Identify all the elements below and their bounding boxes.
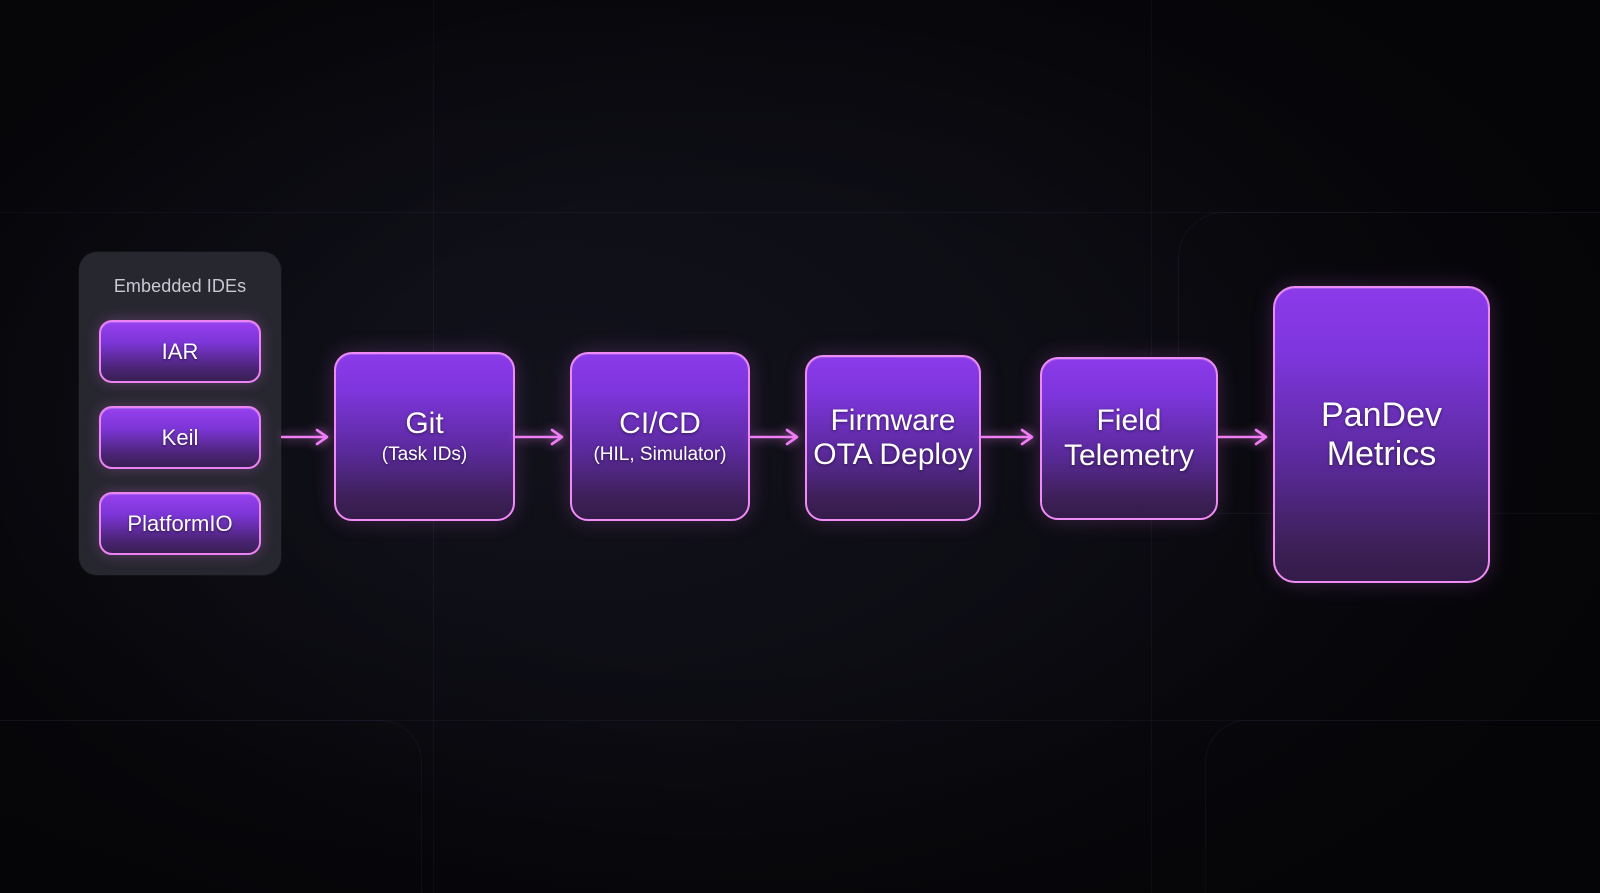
arrow-embedded-ides-to-git: [281, 425, 337, 449]
node-git[interactable]: Git (Task IDs): [334, 352, 515, 521]
node-field-telemetry[interactable]: Field Telemetry: [1040, 357, 1218, 520]
arrow-cicd-to-firmware: [750, 425, 807, 449]
chip-iar[interactable]: IAR: [99, 320, 261, 383]
node-firmware-ota-deploy[interactable]: Firmware OTA Deploy: [805, 355, 981, 521]
chip-keil[interactable]: Keil: [99, 406, 261, 469]
chip-iar-label: IAR: [162, 339, 199, 365]
arrow-telemetry-to-pandev: [1218, 425, 1276, 449]
group-embedded-ides-chip-list: IAR Keil PlatformIO: [99, 320, 261, 555]
node-field-telemetry-title: Field Telemetry: [1064, 404, 1194, 472]
chip-platformio[interactable]: PlatformIO: [99, 492, 261, 555]
flow-diagram: Embedded IDEs IAR Keil PlatformIO Git (T…: [0, 0, 1600, 893]
node-cicd[interactable]: CI/CD (HIL, Simulator): [570, 352, 750, 521]
group-embedded-ides-label: Embedded IDEs: [79, 276, 281, 297]
arrow-firmware-to-telemetry: [981, 425, 1042, 449]
diagram-canvas: Embedded IDEs IAR Keil PlatformIO Git (T…: [0, 0, 1600, 893]
node-firmware-ota-deploy-title: Firmware OTA Deploy: [813, 404, 973, 472]
node-git-title: Git: [405, 407, 443, 441]
node-cicd-title: CI/CD: [619, 407, 701, 441]
node-pandev-metrics-title: PanDev Metrics: [1321, 396, 1442, 474]
chip-platformio-label: PlatformIO: [127, 511, 232, 537]
arrow-git-to-cicd: [515, 425, 572, 449]
node-git-subtitle: (Task IDs): [382, 444, 468, 467]
node-cicd-subtitle: (HIL, Simulator): [593, 444, 726, 467]
chip-keil-label: Keil: [162, 425, 199, 451]
group-embedded-ides[interactable]: Embedded IDEs IAR Keil PlatformIO: [79, 252, 281, 575]
node-pandev-metrics[interactable]: PanDev Metrics: [1273, 286, 1490, 583]
